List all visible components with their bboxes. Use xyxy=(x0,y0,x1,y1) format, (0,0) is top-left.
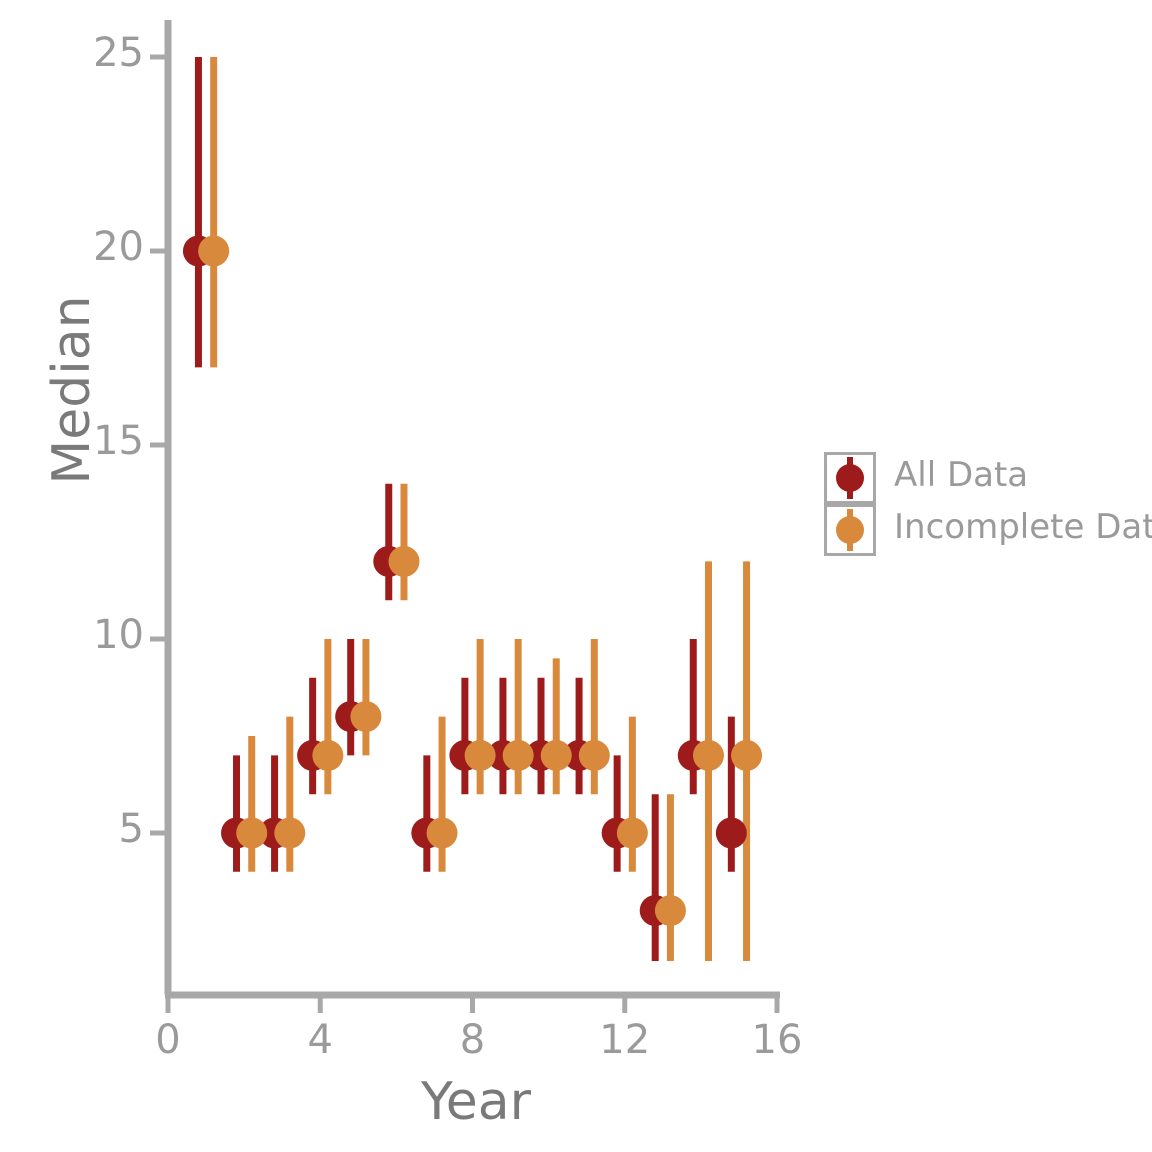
legend-key-marker xyxy=(836,516,864,544)
chart-container: Median Year 5101520250481216 All DataInc… xyxy=(0,0,1152,1152)
data-point[interactable] xyxy=(503,740,534,771)
data-point[interactable] xyxy=(388,546,419,577)
scatter-plot-canvas xyxy=(0,0,1152,1152)
y-axis-title: Median xyxy=(42,260,102,520)
data-point[interactable] xyxy=(236,818,267,849)
x-tick-label: 12 xyxy=(585,1017,665,1063)
x-tick-label: 16 xyxy=(737,1017,817,1063)
y-tick-label: 5 xyxy=(64,806,144,852)
data-point[interactable] xyxy=(693,740,724,771)
y-tick-label: 15 xyxy=(64,418,144,464)
legend-label[interactable]: All Data xyxy=(894,455,1028,495)
data-point[interactable] xyxy=(716,818,747,849)
data-point[interactable] xyxy=(198,236,229,267)
x-tick-label: 0 xyxy=(128,1017,208,1063)
data-point[interactable] xyxy=(579,740,610,771)
markers-incomplete-data xyxy=(198,236,762,927)
data-point[interactable] xyxy=(312,740,343,771)
legend-key-marker xyxy=(836,464,864,492)
data-point[interactable] xyxy=(427,818,458,849)
data-point[interactable] xyxy=(655,895,686,926)
legend-keys xyxy=(824,452,884,564)
x-tick-label: 8 xyxy=(433,1017,513,1063)
markers-all-data xyxy=(183,236,747,927)
y-tick-label: 10 xyxy=(64,612,144,658)
data-point[interactable] xyxy=(465,740,496,771)
x-axis-title: Year xyxy=(296,1072,656,1132)
legend-label[interactable]: Incomplete Data xyxy=(894,507,1152,547)
data-point[interactable] xyxy=(350,701,381,732)
x-tick-label: 4 xyxy=(280,1017,360,1063)
data-point[interactable] xyxy=(617,818,648,849)
data-point[interactable] xyxy=(541,740,572,771)
data-point[interactable] xyxy=(274,818,305,849)
data-point[interactable] xyxy=(731,740,762,771)
y-tick-label: 20 xyxy=(64,224,144,270)
y-tick-label: 25 xyxy=(64,30,144,76)
